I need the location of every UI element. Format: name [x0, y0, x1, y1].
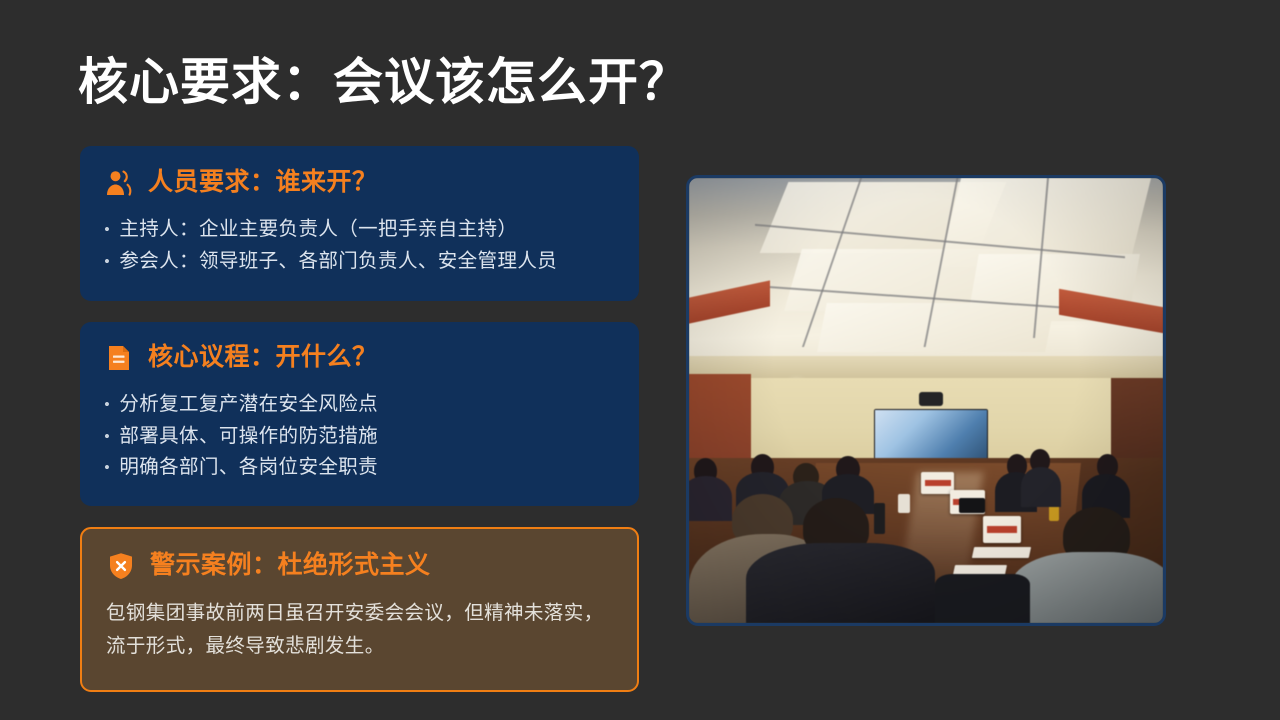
bullet-glyph: • [104, 216, 110, 244]
list-item-text: 明确各部门、各岗位安全职责 [119, 452, 615, 484]
card-warning-case-header: 警示案例：杜绝形式主义 [106, 551, 613, 581]
card-warning-case-paragraph: 包钢集团事故前两日虽召开安委会会议，但精神未落实，流于形式，最终导致悲剧发生。 [106, 597, 606, 664]
document-icon [104, 343, 134, 373]
shield-x-icon [106, 551, 136, 581]
list-item-text: 主持人：企业主要负责人（一把手亲自主持） [119, 214, 615, 246]
slide-root: 核心要求：会议该怎么开？ 人员要求：谁来开？ • 主持人：企业主 [0, 0, 1280, 720]
card-warning-case: 警示案例：杜绝形式主义 包钢集团事故前两日虽召开安委会会议，但精神未落实，流于形… [80, 527, 639, 692]
photo-vignette [689, 178, 1163, 623]
card-agenda-title: 核心议程：开什么？ [148, 344, 378, 372]
bullet-glyph: • [104, 423, 110, 451]
list-item: • 参会人：领导班子、各部门负责人、安全管理人员 [104, 246, 615, 278]
card-personnel: 人员要求：谁来开？ • 主持人：企业主要负责人（一把手亲自主持） • 参会人：领… [80, 146, 639, 301]
list-item-text: 部署具体、可操作的防范措施 [119, 421, 615, 453]
bullet-glyph: • [104, 454, 110, 482]
users-icon [104, 168, 134, 198]
list-item: • 部署具体、可操作的防范措施 [104, 421, 615, 453]
bullet-glyph: • [104, 248, 110, 276]
list-item: • 明确各部门、各岗位安全职责 [104, 452, 615, 484]
card-agenda-header: 核心议程：开什么？ [104, 343, 615, 373]
list-item: • 主持人：企业主要负责人（一把手亲自主持） [104, 214, 615, 246]
card-warning-case-title: 警示案例：杜绝形式主义 [150, 552, 431, 580]
list-item-text: 分析复工复产潜在安全风险点 [119, 389, 615, 421]
bullet-glyph: • [104, 391, 110, 419]
page-title: 核心要求：会议该怎么开？ [78, 52, 690, 113]
card-personnel-list: • 主持人：企业主要负责人（一把手亲自主持） • 参会人：领导班子、各部门负责人… [104, 214, 615, 277]
card-agenda-list: • 分析复工复产潜在安全风险点 • 部署具体、可操作的防范措施 • 明确各部门、… [104, 389, 615, 484]
card-agenda: 核心议程：开什么？ • 分析复工复产潜在安全风险点 • 部署具体、可操作的防范措… [80, 322, 639, 506]
list-item: • 分析复工复产潜在安全风险点 [104, 389, 615, 421]
card-personnel-title: 人员要求：谁来开？ [148, 169, 378, 197]
meeting-photo [689, 178, 1163, 623]
list-item-text: 参会人：领导班子、各部门负责人、安全管理人员 [119, 246, 615, 278]
card-personnel-header: 人员要求：谁来开？ [104, 168, 615, 198]
content-cards-column: 人员要求：谁来开？ • 主持人：企业主要负责人（一把手亲自主持） • 参会人：领… [80, 146, 639, 692]
meeting-photo-frame [686, 175, 1166, 626]
